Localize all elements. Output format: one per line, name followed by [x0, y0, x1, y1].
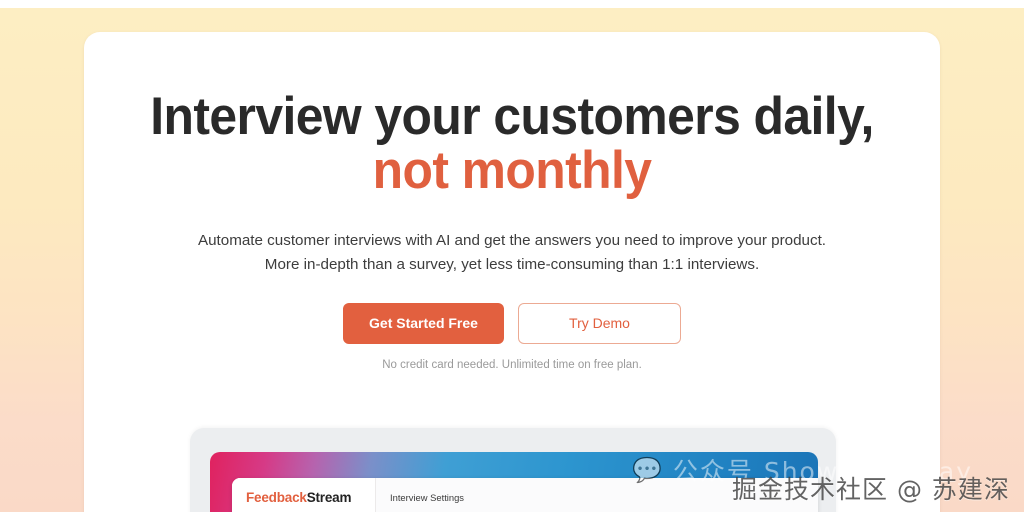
app-logo-first: Feedback: [246, 490, 307, 505]
hero-subheading: Automate customer interviews with AI and…: [84, 229, 940, 278]
hero-card: Interview your customers daily, not mont…: [84, 32, 940, 512]
try-demo-button[interactable]: Try Demo: [518, 303, 681, 344]
app-logo: FeedbackStream: [246, 490, 375, 505]
page-title: Interview your customers daily, not mont…: [110, 90, 915, 198]
app-sidebar: FeedbackStream 🤖 Interview Agents: [232, 478, 376, 512]
app-main-content: Interview Settings Pick a voice: [390, 492, 464, 512]
pricing-disclaimer: No credit card needed. Unlimited time on…: [84, 359, 940, 371]
product-screenshot-frame: FeedbackStream 🤖 Interview Agents Interv…: [190, 428, 836, 512]
subheading-line-2: More in-depth than a survey, yet less ti…: [84, 253, 940, 277]
headline-line-2: not monthly: [110, 144, 915, 198]
get-started-free-button[interactable]: Get Started Free: [343, 303, 504, 344]
app-window-mockup: FeedbackStream 🤖 Interview Agents Interv…: [232, 478, 818, 512]
headline-line-1: Interview your customers daily,: [150, 87, 874, 146]
interview-settings-title: Interview Settings: [390, 492, 464, 503]
product-screenshot-gradient-backdrop: FeedbackStream 🤖 Interview Agents Interv…: [210, 452, 818, 512]
subheading-line-1: Automate customer interviews with AI and…: [84, 229, 940, 253]
cta-button-row: Get Started Free Try Demo: [84, 303, 940, 344]
app-logo-second: Stream: [307, 490, 352, 505]
